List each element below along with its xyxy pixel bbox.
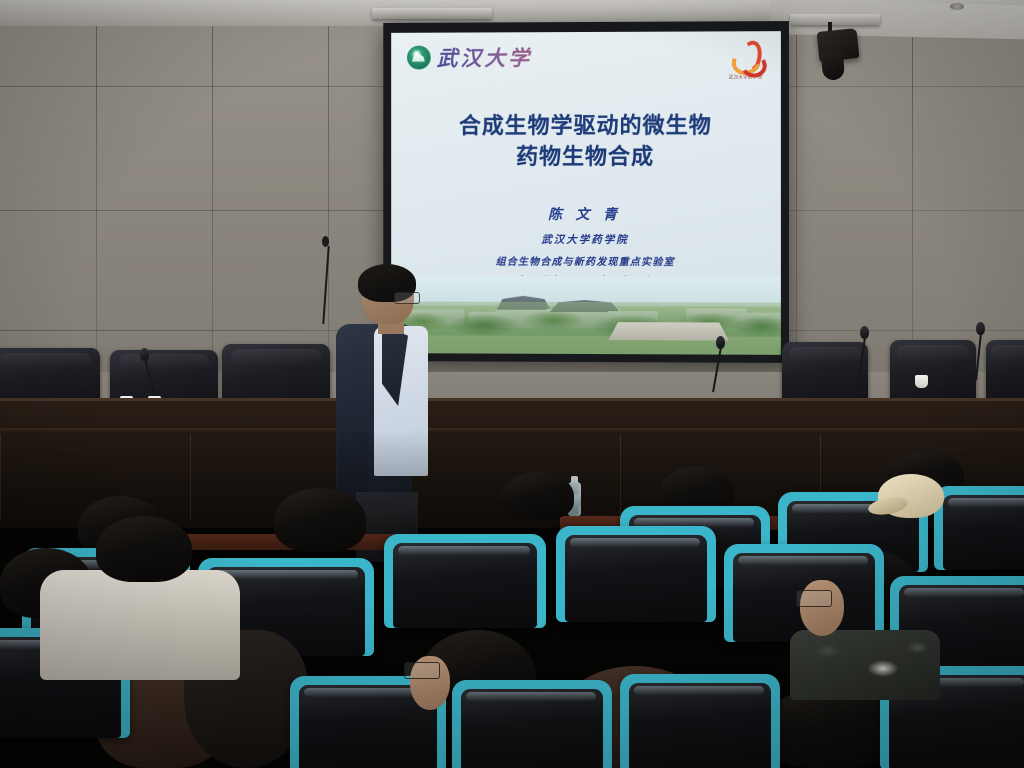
auditorium-seat: [620, 674, 780, 768]
beige-cap: [878, 474, 944, 518]
panel-chair: [222, 344, 330, 406]
panel-chair: [986, 340, 1024, 402]
audience-face: [800, 580, 844, 636]
university-logo: 武汉大学: [407, 42, 532, 72]
pharmacy-school-logo: 武汉大学药学院: [722, 39, 768, 80]
auditorium-seat: [452, 680, 612, 768]
panel-chair: [890, 340, 976, 402]
slide-title: 合成生物学驱动的微生物 药物生物合成: [391, 110, 781, 173]
affiliation-line-1: 武汉大学药学院: [391, 232, 781, 248]
slide-title-line-2: 药物生物合成: [391, 141, 781, 173]
ceiling-rail-left: [372, 8, 492, 19]
eyeglasses-icon: [404, 662, 440, 679]
projection-screen: 武汉大学 武汉大学药学院 合成生物学驱动的微生物 药物生物合成 陈 文 青 武汉…: [383, 21, 789, 363]
ceiling-sprinkler-icon: [950, 3, 964, 10]
audience-head: [760, 688, 900, 768]
audience-head: [96, 516, 192, 582]
audience-head: [274, 488, 366, 552]
university-name: 武汉大学: [437, 42, 532, 72]
cream-hoodie: [40, 570, 240, 680]
auditorium-seat: [384, 534, 546, 628]
affiliation-line-2: 组合生物合成与新药发现重点实验室: [391, 253, 781, 269]
panel-chair: [782, 342, 868, 402]
ceiling-rail-right: [790, 14, 880, 25]
pharmacy-school-swirl-icon: [728, 39, 762, 73]
presenter-name: 陈 文 青: [391, 204, 781, 224]
slide-surface: 武汉大学 武汉大学药学院 合成生物学驱动的微生物 药物生物合成 陈 文 青 武汉…: [391, 31, 781, 355]
auditorium-seat: [556, 526, 716, 622]
audience-area: [0, 430, 1024, 768]
camo-jacket: [790, 630, 940, 700]
slide-title-line-1: 合成生物学驱动的微生物: [391, 110, 781, 142]
paper-cup: [915, 375, 928, 388]
presenter-glasses-icon: [394, 292, 420, 304]
auditorium-seat: [934, 486, 1024, 570]
wuhan-university-emblem-icon: [407, 46, 431, 70]
eyeglasses-icon: [796, 590, 832, 607]
lecture-hall-photo: 武汉大学 武汉大学药学院 合成生物学驱动的微生物 药物生物合成 陈 文 青 武汉…: [0, 0, 1024, 768]
audience-head: [502, 472, 574, 520]
